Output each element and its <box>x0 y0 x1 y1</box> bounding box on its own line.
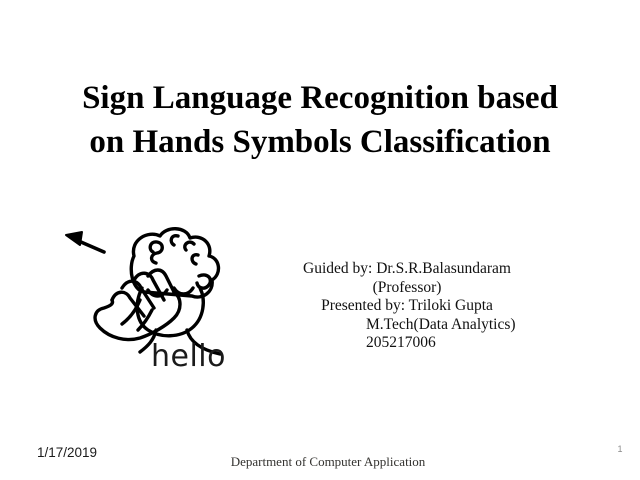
motion-arrow-icon <box>66 232 104 252</box>
footer-date: 1/17/2019 <box>37 444 97 462</box>
title-line-1: Sign Language Recognition based <box>40 76 600 120</box>
page-title: Sign Language Recognition based on Hands… <box>40 76 600 164</box>
credits-professor: (Professor) <box>262 279 552 298</box>
credits-roll-number: 205217006 <box>262 334 552 353</box>
credits-presented-by: Presented by: Triloki Gupta <box>262 297 552 316</box>
slide-canvas: Sign Language Recognition based on Hands… <box>0 0 640 480</box>
credits-guided-by: Guided by: Dr.S.R.Balasundaram <box>262 260 552 279</box>
figure-caption-hello: hello <box>56 340 226 374</box>
footer-department: Department of Computer Application <box>160 454 496 470</box>
credits-block: Guided by: Dr.S.R.Balasundaram (Professo… <box>262 260 552 353</box>
title-line-2: on Hands Symbols Classification <box>40 120 600 164</box>
flat-hand-outline <box>95 270 180 340</box>
credits-degree: M.Tech(Data Analytics) <box>262 316 552 335</box>
slide-number: 1 <box>612 443 628 455</box>
